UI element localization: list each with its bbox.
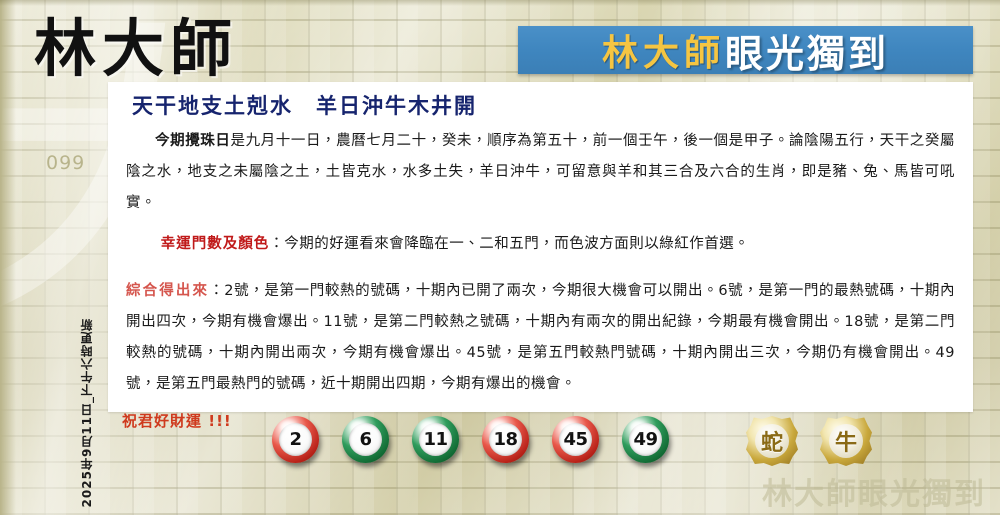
lottery-ball-number: 49 — [633, 429, 657, 450]
zodiac-medallion-face: 牛 — [829, 424, 863, 458]
paragraph-forecast-lead: 今期攪珠日 — [155, 133, 230, 149]
lottery-ball-number: 18 — [493, 429, 517, 450]
paragraph-summary: 綜合得出來：2號，是第一門較熱的號碼，十期內已開了兩次，今期很大機會可以開出。6… — [126, 276, 955, 400]
paragraph-summary-body: ：2號，是第一門較熱的號碼，十期內已開了兩次，今期很大機會可以開出。6號，是第一… — [126, 283, 955, 392]
updated-timestamp: 2025年9月11日_下午六時更新 — [78, 318, 95, 507]
paragraph-forecast: 今期攪珠日是九月十一日，農曆七月二十，癸未，順序為第五十，前一個壬午，後一個是甲… — [126, 126, 955, 219]
zodiac-character: 蛇 — [761, 425, 783, 457]
lottery-ball[interactable]: 2 — [272, 416, 319, 463]
lottery-ball-number: 6 — [359, 429, 371, 450]
lottery-ball[interactable]: 18 — [482, 416, 529, 463]
footer-watermark: 林大師眼光獨到 — [762, 469, 986, 513]
lottery-ball-face: 2 — [279, 423, 312, 456]
headline-banner: 林大師 眼光獨到 — [518, 26, 973, 74]
brand-title: 林大師 — [34, 18, 238, 80]
lottery-ball[interactable]: 6 — [342, 416, 389, 463]
lottery-ball[interactable]: 45 — [552, 416, 599, 463]
lottery-ball[interactable]: 49 — [622, 416, 669, 463]
lottery-ball-face: 18 — [489, 423, 522, 456]
zodiac-medallion-face: 蛇 — [755, 424, 789, 458]
zodiac-medallion[interactable]: 蛇 — [746, 416, 798, 466]
banner-brand-text: 林大師 — [602, 26, 725, 74]
lottery-ball-number: 11 — [423, 429, 447, 450]
lottery-ball-face: 6 — [349, 423, 382, 456]
paragraph-lucky-lead: 幸運門數及顏色 — [161, 236, 270, 252]
lottery-ball-face: 11 — [419, 423, 452, 456]
predicted-numbers-row: 2 6 11 18 45 — [272, 416, 669, 463]
article-panel: 天干地支土剋水 羊日沖牛木井開 今期攪珠日是九月十一日，農曆七月二十，癸未，順序… — [108, 82, 973, 412]
paragraph-forecast-body: 是九月十一日，農曆七月二十，癸未，順序為第五十，前一個壬午，後一個是甲子。論陰陽… — [126, 133, 955, 211]
lottery-tip-sheet: 大 林大師 099 林大師 眼光獨到 天干地支土剋水 羊日沖牛木井開 今期攪珠日… — [0, 0, 1000, 515]
paragraph-summary-lead: 綜合得出來 — [126, 283, 209, 299]
zodiac-row: 蛇 牛 — [746, 416, 872, 466]
lottery-ball-number: 2 — [289, 429, 301, 450]
lottery-ball[interactable]: 11 — [412, 416, 459, 463]
issue-number: 099 — [46, 152, 85, 174]
paragraph-lucky-body: ：今期的好運看來會降臨在一、二和五門，而色波方面則以綠紅作首選。 — [269, 236, 749, 252]
lottery-ball-face: 45 — [559, 423, 592, 456]
banner-slogan-text: 眼光獨到 — [725, 26, 889, 74]
article-headline: 天干地支土剋水 羊日沖牛木井開 — [132, 90, 959, 120]
paragraph-lucky: 幸運門數及顏色：今期的好運看來會降臨在一、二和五門，而色波方面則以綠紅作首選。 — [126, 229, 955, 260]
zodiac-character: 牛 — [835, 425, 857, 457]
top-frame-edge — [0, 0, 1000, 6]
lottery-ball-face: 49 — [629, 423, 662, 456]
article-body: 天干地支土剋水 羊日沖牛木井開 今期攪珠日是九月十一日，農曆七月二十，癸未，順序… — [108, 82, 973, 431]
zodiac-medallion[interactable]: 牛 — [820, 416, 872, 466]
lottery-ball-number: 45 — [563, 429, 587, 450]
left-frame-edge — [0, 0, 16, 515]
